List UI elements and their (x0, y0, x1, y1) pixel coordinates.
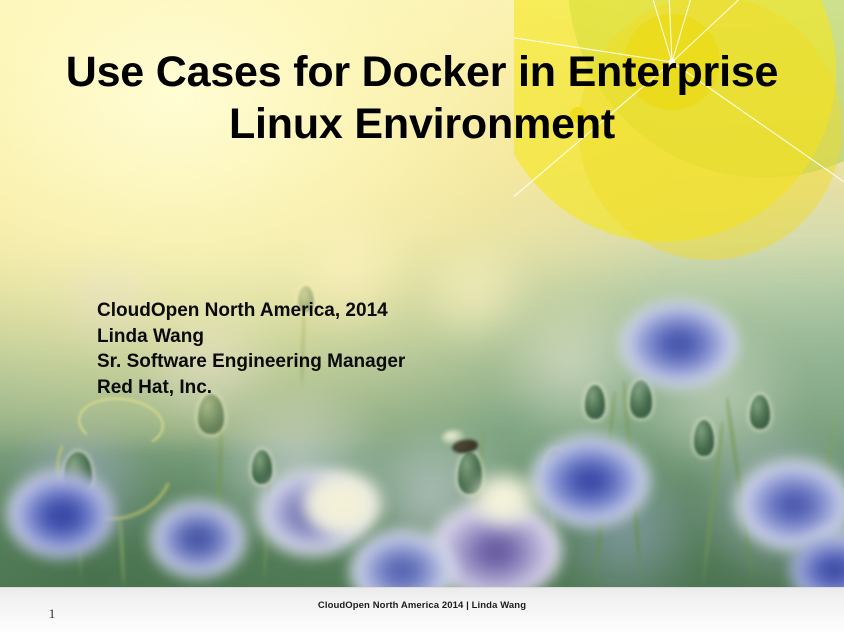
cornflower-bloom (6, 470, 114, 558)
presentation-slide: Use Cases for Docker in Enterprise Linux… (0, 0, 844, 632)
slide-title: Use Cases for Docker in Enterprise Linux… (36, 46, 808, 150)
flower-bud (694, 420, 714, 456)
slide-footer: 1 CloudOpen North America 2014 | Linda W… (0, 587, 844, 632)
flower-bud (750, 395, 770, 429)
flower-bud (252, 450, 272, 484)
slide-subtitle: CloudOpen North America, 2014 Linda Wang… (97, 298, 405, 400)
white-daisy-bloom (466, 468, 542, 530)
white-daisy-bloom (300, 470, 384, 538)
cornflower-bloom (530, 435, 650, 527)
bee-group (440, 430, 486, 460)
footer-text: CloudOpen North America 2014 | Linda Wan… (0, 600, 844, 611)
cornflower-bloom (150, 500, 246, 578)
